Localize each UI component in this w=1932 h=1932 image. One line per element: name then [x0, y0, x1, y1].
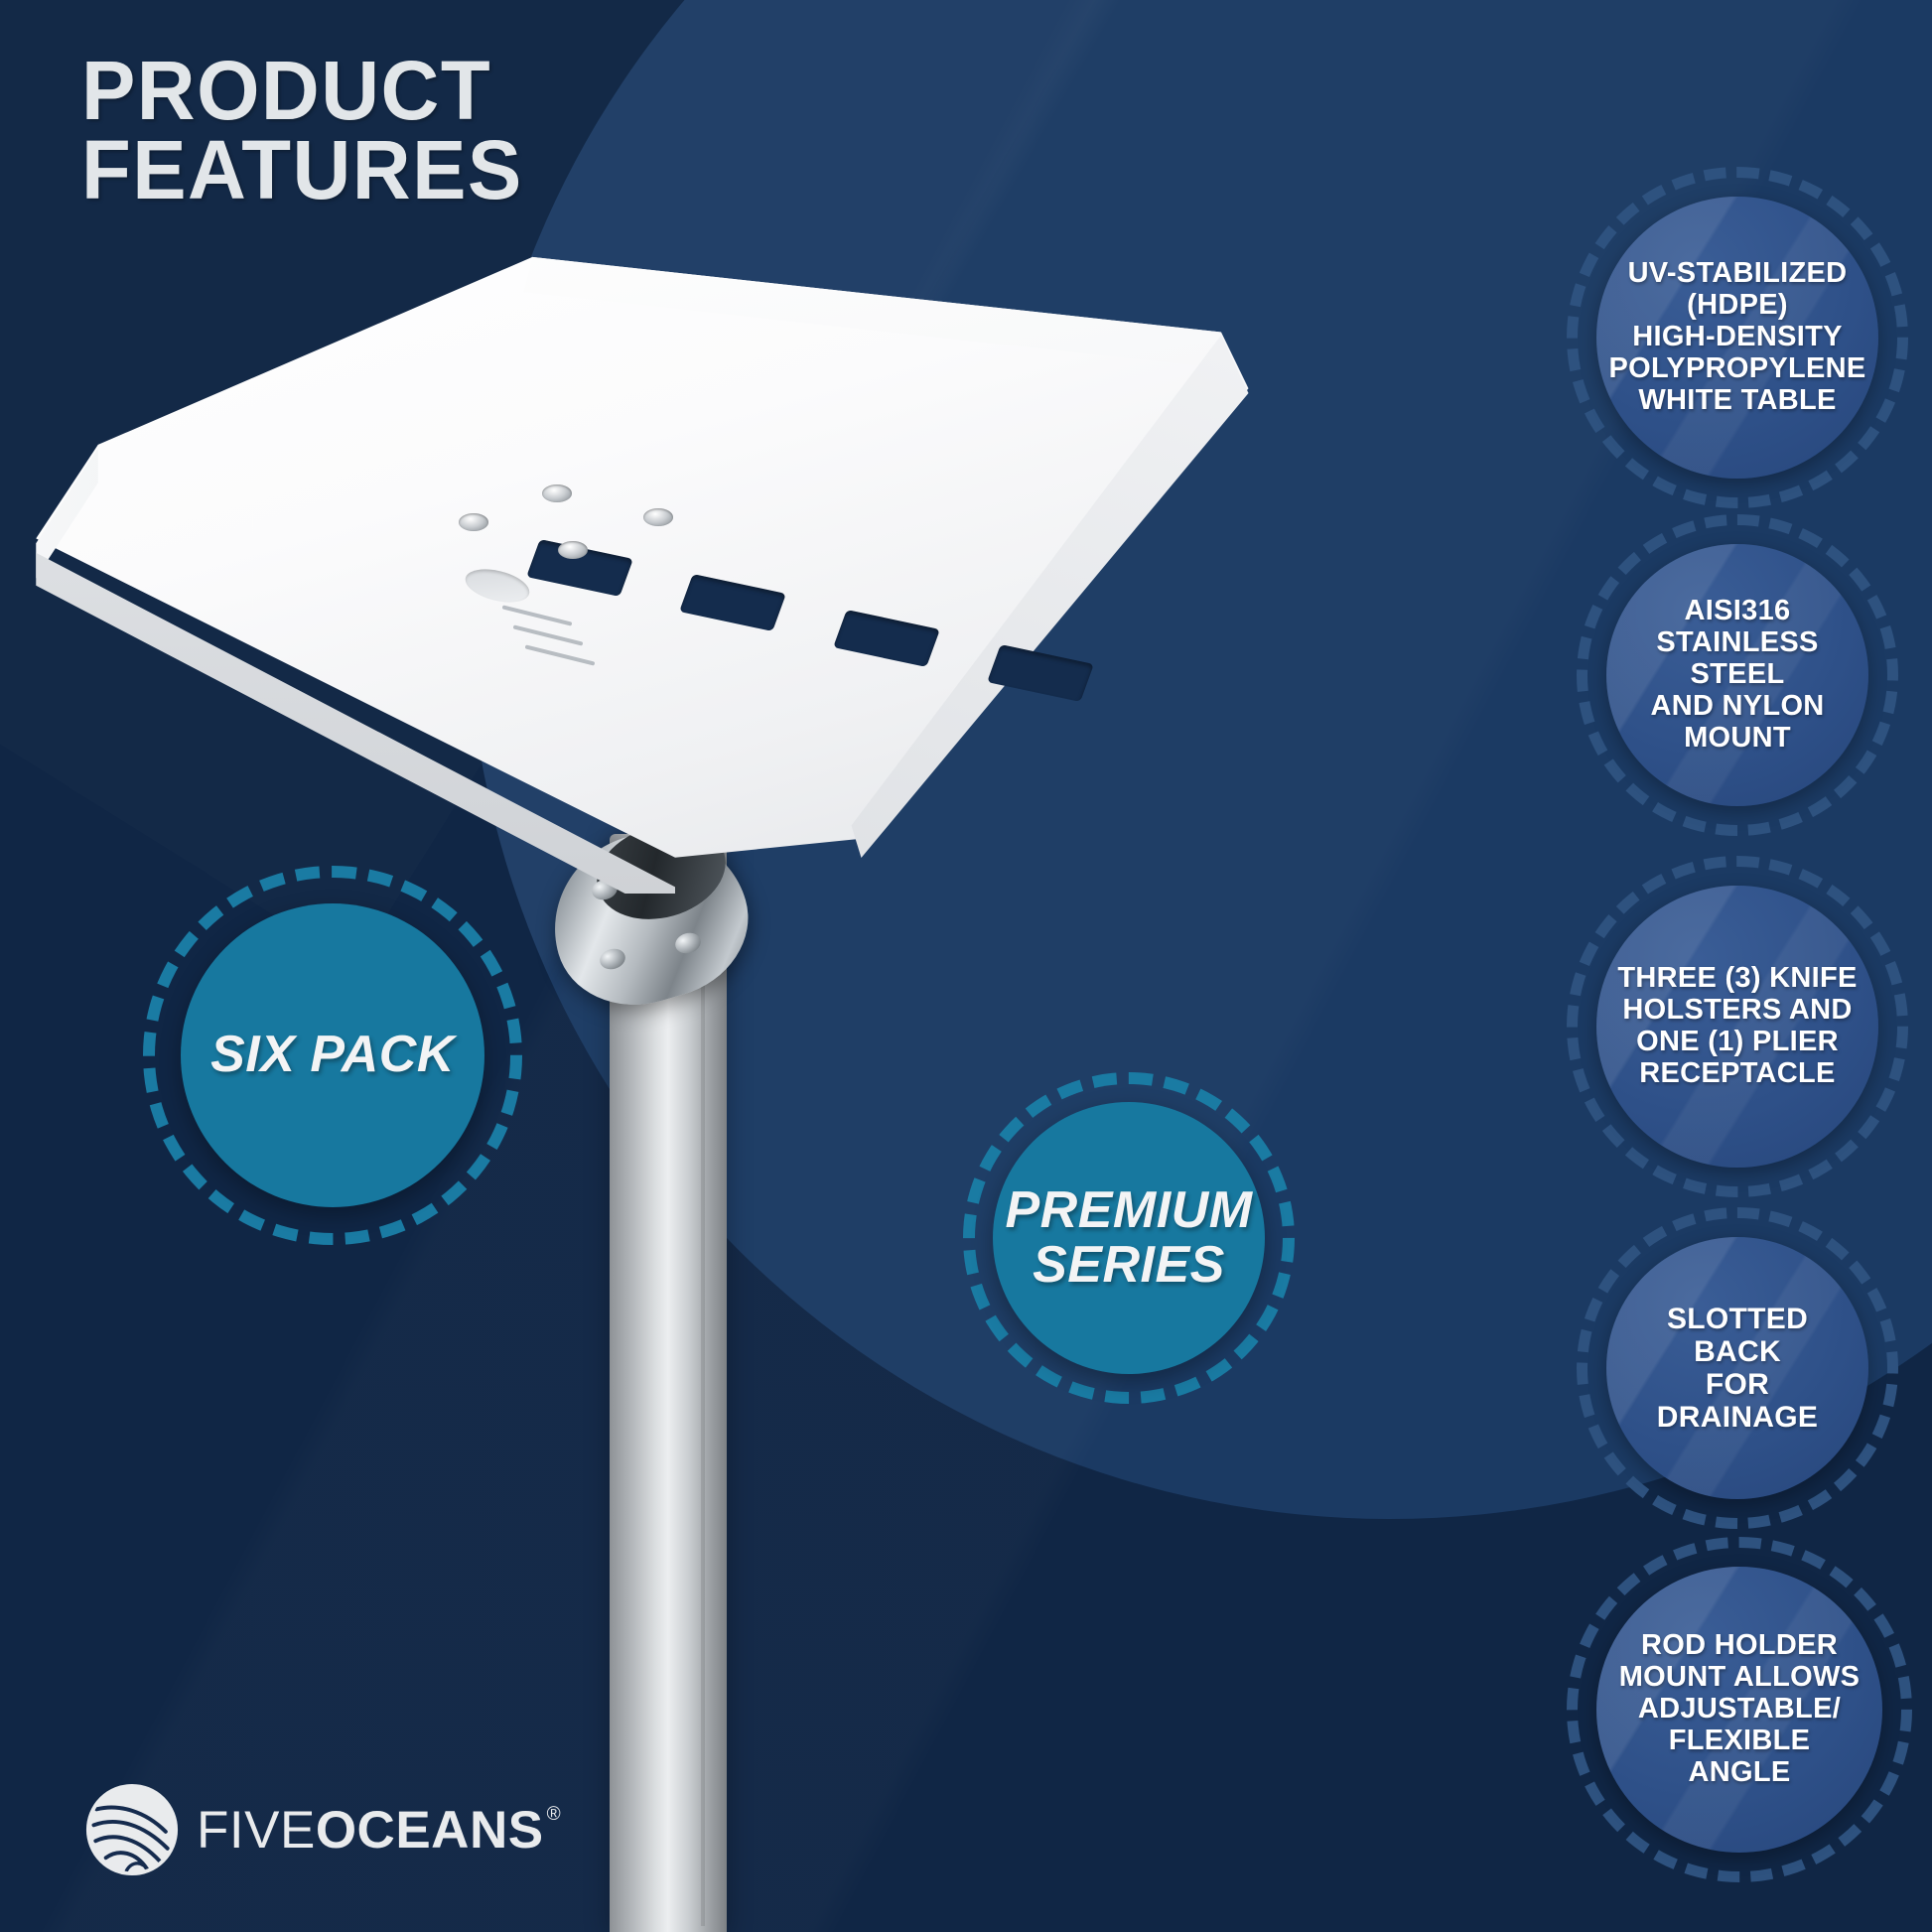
feature-line: THREE (3) KNIFE [1617, 963, 1857, 995]
page-title: PRODUCT FEATURES [81, 52, 813, 210]
feature-line: SLOTTED BACK [1622, 1303, 1853, 1368]
feature-line: FLEXIBLE [1619, 1725, 1861, 1757]
registered-trademark-icon: ® [547, 1804, 562, 1826]
feature-line: ANGLE [1619, 1757, 1861, 1789]
feature-bubble-holsters[interactable]: THREE (3) KNIFE HOLSTERS AND ONE (1) PLI… [1596, 886, 1878, 1168]
feature-line: (HDPE) [1608, 290, 1865, 322]
feature-line: AISI316 [1622, 596, 1853, 627]
feature-line: HIGH-DENSITY [1608, 322, 1865, 353]
feature-line: HOLSTERS AND [1617, 995, 1857, 1027]
feature-line: MOUNT [1622, 723, 1853, 755]
badge-six-pack[interactable]: SIX PACK [181, 903, 484, 1207]
feature-line: UV-STABILIZED [1608, 258, 1865, 290]
brand-logo-bold-word: OCEANS [316, 1800, 544, 1861]
feature-line: FOR DRAINAGE [1622, 1368, 1853, 1434]
ocean-waves-globe-icon [85, 1783, 179, 1876]
feature-bubble-rod-holder[interactable]: ROD HOLDER MOUNT ALLOWS ADJUSTABLE/ FLEX… [1596, 1567, 1882, 1853]
feature-line: ROD HOLDER [1619, 1630, 1861, 1662]
product-features-infographic: PRODUCT FEATURES UV-STABILIZED ( [0, 0, 1932, 1932]
badge-line: PREMIUM [1005, 1183, 1252, 1238]
feature-line: ADJUSTABLE/ [1619, 1694, 1861, 1725]
feature-bubble-drainage[interactable]: SLOTTED BACK FOR DRAINAGE [1606, 1237, 1868, 1499]
page-title-line-2: FEATURES [81, 131, 813, 210]
brand-logo-text: FIVE OCEANS ® [197, 1800, 561, 1861]
feature-line: ONE (1) PLIER [1617, 1027, 1857, 1058]
page-title-line-1: PRODUCT [81, 52, 813, 131]
brand-logo-light-word: FIVE [197, 1800, 316, 1861]
feature-bubble-material[interactable]: UV-STABILIZED (HDPE) HIGH-DENSITY POLYPR… [1596, 197, 1878, 479]
feature-line: MOUNT ALLOWS [1619, 1662, 1861, 1694]
feature-line: RECEPTACLE [1617, 1058, 1857, 1090]
feature-line: POLYPROPYLENE [1608, 353, 1865, 385]
badge-premium-series[interactable]: PREMIUM SERIES [993, 1102, 1265, 1374]
badge-line: SIX PACK [210, 1028, 455, 1082]
brand-logo: FIVE OCEANS ® [85, 1783, 561, 1876]
badge-line: SERIES [1005, 1238, 1252, 1293]
feature-line: AND NYLON [1622, 691, 1853, 723]
feature-line: STAINLESS STEEL [1622, 627, 1853, 691]
feature-bubble-mount-material[interactable]: AISI316 STAINLESS STEEL AND NYLON MOUNT [1606, 544, 1868, 806]
feature-line: WHITE TABLE [1608, 385, 1865, 417]
